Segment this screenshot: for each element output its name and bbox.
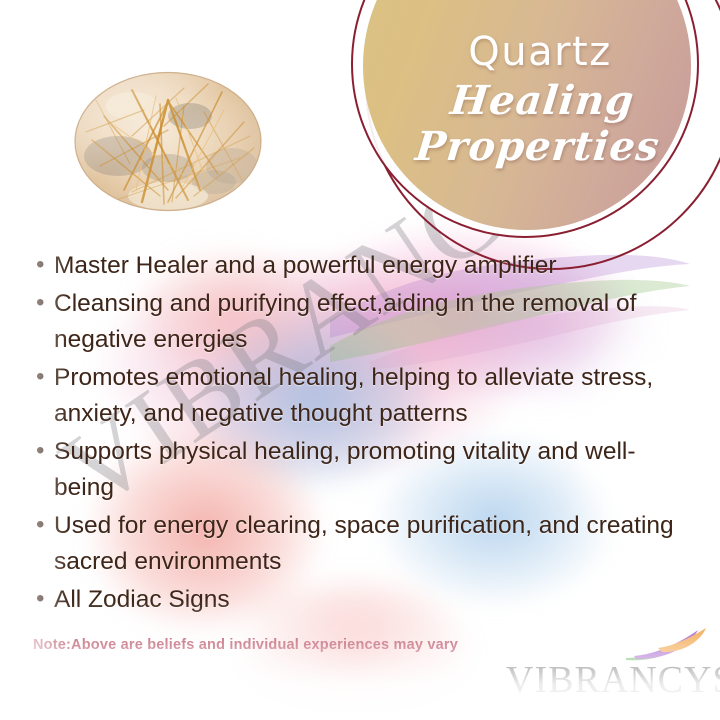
badge-gradient-circle xyxy=(363,0,691,230)
list-item: All Zodiac Signs xyxy=(30,582,690,618)
poster-canvas: VIBRANCYS Quartz Healing Properties xyxy=(0,0,720,720)
leaf-flourish-icon xyxy=(624,628,710,662)
badge-outer-outline xyxy=(365,0,720,270)
disclaimer-note: Note:Above are beliefs and individual ex… xyxy=(33,637,458,653)
badge-inner-outline xyxy=(351,0,699,238)
page-title: Quartz xyxy=(360,30,720,74)
list-item: Supports physical healing, promoting vit… xyxy=(30,434,690,506)
gemstone-image xyxy=(72,70,264,213)
list-item: Used for energy clearing, space purifica… xyxy=(30,508,690,580)
list-item: Promotes emotional healing, helping to a… xyxy=(30,360,690,432)
list-item: Master Healer and a powerful energy ampl… xyxy=(30,248,690,284)
brand-name: VIBRANCYS xyxy=(506,658,714,702)
title-block: Quartz Healing Properties xyxy=(360,30,720,170)
page-subtitle: Healing Properties xyxy=(355,78,720,170)
brand-logo: VIBRANCYS xyxy=(506,628,714,710)
healing-properties-list: Master Healer and a powerful energy ampl… xyxy=(30,248,690,620)
title-badge xyxy=(351,0,720,230)
list-item: Cleansing and purifying effect,aiding in… xyxy=(30,286,690,358)
